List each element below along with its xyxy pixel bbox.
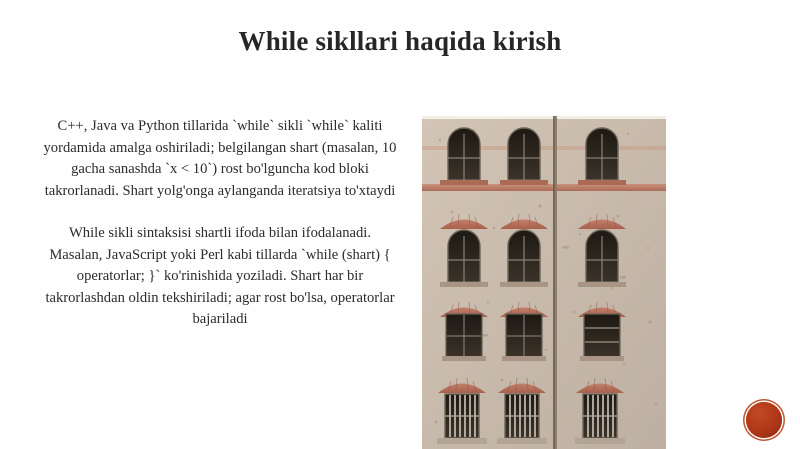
- facade-illustration: [422, 116, 666, 449]
- paragraph-1: C++, Java va Python tillarida `while` si…: [42, 116, 398, 202]
- paragraph-2: While sikli sintaksisi shartli ifoda bil…: [42, 223, 398, 331]
- red-circle-decoration: [746, 402, 782, 438]
- building-facade-image: [422, 116, 666, 449]
- page-title: While sikllari haqida kirish: [60, 24, 740, 58]
- presentation-slide: While sikllari haqida kirish C++, Java v…: [0, 0, 800, 449]
- body-text-block: C++, Java va Python tillarida `while` si…: [42, 116, 398, 331]
- red-circle-fill: [746, 402, 782, 438]
